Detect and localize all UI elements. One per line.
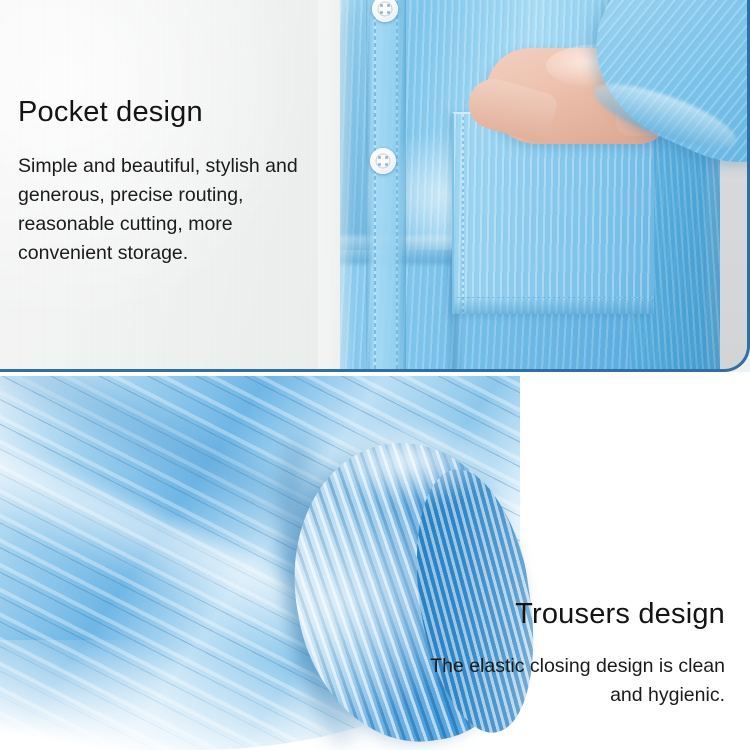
pocket-section-inner: Pocket design Simple and beautiful, styl… xyxy=(0,0,750,372)
pocket-design-section: Pocket design Simple and beautiful, styl… xyxy=(0,0,750,372)
button-placket xyxy=(366,0,406,372)
shirt-button-icon xyxy=(370,148,396,174)
placket-seam-right xyxy=(396,0,398,372)
pocket-bottom-edge xyxy=(454,297,654,314)
placket-seam-left xyxy=(374,0,376,372)
cuff-specular-highlight xyxy=(318,416,498,506)
pocket-heading: Pocket design xyxy=(18,96,203,129)
pocket-body-text: Simple and beautiful, stylish and genero… xyxy=(18,152,330,268)
pocket-seam xyxy=(462,114,464,314)
product-feature-image: Pocket design Simple and beautiful, styl… xyxy=(0,0,750,750)
trousers-body-text: The elastic closing design is clean and … xyxy=(395,652,725,710)
trousers-heading: Trousers design xyxy=(515,598,725,631)
